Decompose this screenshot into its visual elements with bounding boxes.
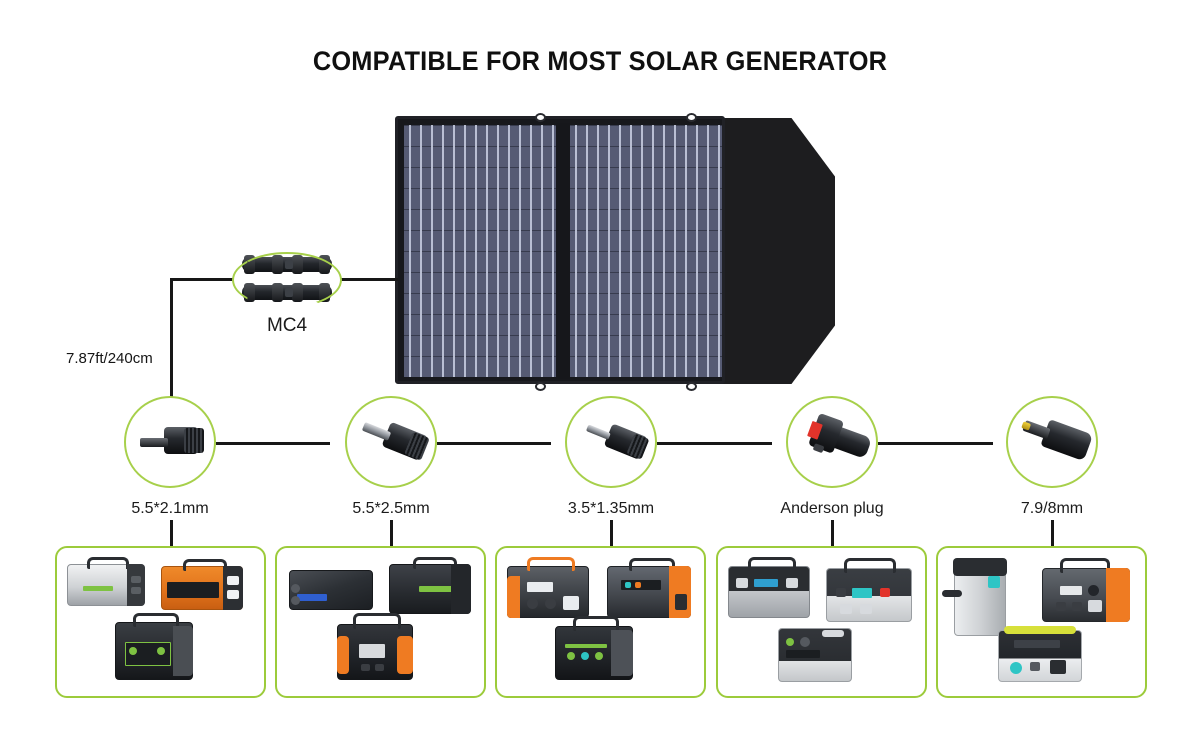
- product-group-5[interactable]: [936, 546, 1147, 698]
- dc-barrel-plug-icon-2: [345, 403, 440, 485]
- connector-circle-4: [786, 396, 878, 488]
- stem-3: [610, 520, 613, 546]
- anderson-plug-icon-4: [788, 402, 882, 485]
- grommet-top-right: [686, 113, 697, 122]
- device-tall-silver-battery: [954, 566, 1006, 636]
- dc-barrel-plug-small-icon-3: [565, 403, 660, 485]
- wire-bus-3: [657, 442, 772, 445]
- connector-label-3: 3.5*1.35mm: [521, 500, 701, 518]
- connector-circle-3: [565, 396, 657, 488]
- wire-bus-1: [216, 442, 330, 445]
- connector-label-4: Anderson plug: [742, 500, 922, 518]
- grommet-bottom-left: [535, 382, 546, 391]
- device-white-yellow-power-station: [998, 630, 1082, 682]
- solar-panel-frame: [395, 116, 725, 384]
- mc4-label: MC4: [232, 315, 342, 337]
- stem-5: [1051, 520, 1054, 546]
- dc-barrel-plug-wide-icon-5: [1006, 402, 1101, 484]
- connector-circle-5: [1006, 396, 1098, 488]
- product-group-1[interactable]: [55, 546, 266, 698]
- device-flat-black-inverter: [289, 570, 373, 610]
- device-gray-orange-power-station: [1042, 568, 1130, 622]
- device-silver-power-station: [67, 564, 145, 606]
- page-title: COMPATIBLE FOR MOST SOLAR GENERATOR: [36, 46, 1164, 77]
- connector-label-2: 5.5*2.5mm: [301, 500, 481, 518]
- device-silver-black-power-station: [728, 566, 810, 618]
- product-group-4[interactable]: [716, 546, 927, 698]
- wire-mc4-to-trunk: [170, 278, 234, 281]
- stem-1: [170, 520, 173, 546]
- product-group-3[interactable]: [495, 546, 706, 698]
- solar-panel-hinge: [556, 123, 570, 379]
- wire-panel-to-mc4: [340, 278, 398, 281]
- solar-panel-leaf-left: [404, 125, 556, 377]
- device-green-black-power-station: [115, 622, 193, 680]
- device-dark-box-power-station: [389, 564, 471, 614]
- connector-circle-1: [124, 396, 216, 488]
- device-orange-gray-power-station: [507, 566, 589, 618]
- device-cube-power-station: [778, 628, 852, 682]
- device-orange-power-station: [161, 566, 243, 610]
- product-group-2[interactable]: [275, 546, 486, 698]
- connector-label-5: 7.9/8mm: [962, 500, 1142, 518]
- device-orange-handle-power-station: [337, 624, 413, 680]
- dc-barrel-plug-icon-1: [134, 424, 210, 464]
- device-black-green-power-station: [555, 626, 633, 680]
- connector-label-1: 5.5*2.1mm: [80, 500, 260, 518]
- mc4-connector-pair: [232, 252, 342, 308]
- stem-4: [831, 520, 834, 546]
- infographic-canvas: COMPATIBLE FOR MOST SOLAR GENERATOR MC4: [0, 0, 1200, 748]
- grommet-bottom-right: [686, 382, 697, 391]
- grommet-top-left: [535, 113, 546, 122]
- cable-length-label: 7.87ft/240cm: [66, 350, 153, 367]
- stem-2: [390, 520, 393, 546]
- solar-panel: [395, 116, 850, 388]
- connector-circle-2: [345, 396, 437, 488]
- wire-bus-4: [878, 442, 993, 445]
- device-white-black-power-station: [826, 568, 912, 622]
- device-orange-gray-compact-station: [607, 566, 691, 618]
- solar-panel-leaf-right: [570, 125, 722, 377]
- wire-bus-2: [437, 442, 551, 445]
